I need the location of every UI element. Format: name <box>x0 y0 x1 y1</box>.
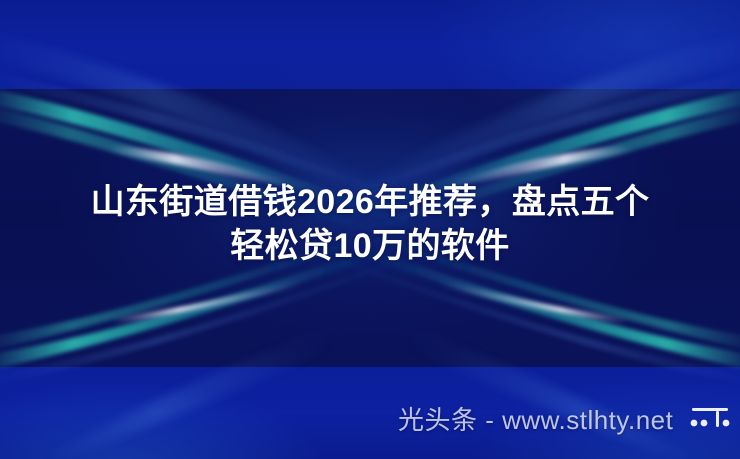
page-title: 山东街道借钱2026年推荐，盘点五个 轻松贷10万的软件 <box>0 180 740 268</box>
site-watermark: 光头条 - www.stlhty.net <box>398 404 673 436</box>
cover-banner: 山东街道借钱2026年推荐，盘点五个 轻松贷10万的软件 光头条 - www.s… <box>0 0 740 459</box>
